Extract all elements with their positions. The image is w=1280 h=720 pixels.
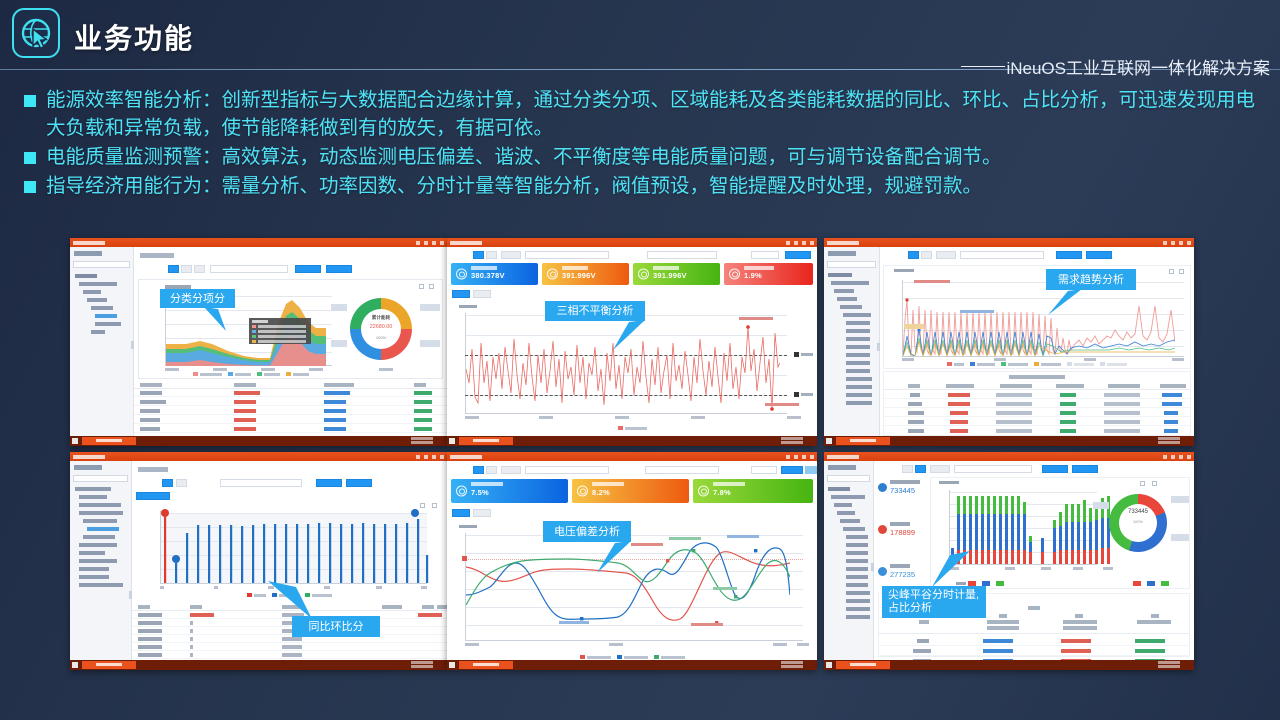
breadcrumb xyxy=(138,467,168,472)
export-button[interactable] xyxy=(326,265,352,273)
x-tick xyxy=(1005,567,1015,570)
start-button[interactable] xyxy=(826,438,832,444)
window-titlebar xyxy=(824,238,1194,247)
tree-node[interactable] xyxy=(846,377,872,381)
window-controls[interactable] xyxy=(786,241,814,245)
tree-node[interactable] xyxy=(79,575,109,579)
start-button[interactable] xyxy=(826,662,832,668)
bullet-item: 能源效率智能分析：创新型指标与大数据配合边缘计算，通过分类分项、区域能耗及各类能… xyxy=(24,86,1272,142)
table-row[interactable] xyxy=(132,627,447,635)
export-button[interactable] xyxy=(1086,251,1112,259)
bullet-item: 电能质量监测预警：高效算法，动态监测电压偏差、谐波、不平衡度等电能质量问题，可与… xyxy=(24,143,1272,171)
os-taskbar[interactable] xyxy=(824,660,1194,670)
window-titlebar xyxy=(70,452,447,461)
x-tick xyxy=(994,358,1006,361)
os-taskbar[interactable] xyxy=(70,436,447,446)
kpi-label xyxy=(471,482,503,486)
chart-download-icon[interactable] xyxy=(1179,269,1184,274)
window-title-placeholder xyxy=(73,241,105,246)
tree-node[interactable] xyxy=(79,559,117,563)
tree-search-input[interactable] xyxy=(827,261,876,268)
window-controls[interactable] xyxy=(416,241,444,245)
search-button[interactable] xyxy=(785,251,811,259)
tree-node[interactable] xyxy=(79,567,109,571)
taskbar-app-item[interactable] xyxy=(459,437,513,445)
tree-node[interactable] xyxy=(846,551,868,555)
x-tick xyxy=(261,368,275,371)
table-caption xyxy=(1009,375,1065,379)
x-tick xyxy=(539,416,553,419)
kpi-item-peak: 178899 xyxy=(878,519,930,543)
callout-demand-trend: 需求趋势分析 xyxy=(1046,269,1136,290)
window-title-placeholder xyxy=(73,455,105,460)
annotation-min xyxy=(691,623,723,626)
sidebar-title xyxy=(828,251,856,256)
tree-node[interactable] xyxy=(79,282,117,286)
screenshot-classified-energy[interactable]: 累计能耗 22680.00 100% xyxy=(70,238,447,446)
table-row[interactable] xyxy=(134,425,447,433)
screenshot-three-phase-unbalance[interactable]: 380.378V 391.996V 391.996V 1.9% xyxy=(447,238,817,446)
query-toolbar[interactable] xyxy=(140,265,441,274)
table-row[interactable] xyxy=(879,646,1189,656)
x-tick xyxy=(421,586,427,589)
callout-tail xyxy=(204,307,236,333)
sidebar-title xyxy=(828,465,856,470)
table-row[interactable] xyxy=(134,398,447,406)
legend-item xyxy=(193,372,222,376)
window-controls[interactable] xyxy=(1163,241,1191,245)
bar-series xyxy=(161,511,431,583)
taskbar-app-item[interactable] xyxy=(459,661,513,669)
x-tick xyxy=(797,643,809,646)
tree-node[interactable] xyxy=(83,290,101,294)
tree-node[interactable] xyxy=(837,297,857,301)
tree-search-input[interactable] xyxy=(73,261,130,268)
tree-node[interactable] xyxy=(840,305,862,309)
donut-leader-label xyxy=(1093,502,1109,509)
legend-item xyxy=(618,426,647,430)
toolbar-label xyxy=(880,465,904,473)
legend-item xyxy=(1001,362,1028,366)
tab-chart[interactable] xyxy=(452,509,470,517)
tree-node[interactable] xyxy=(843,527,865,531)
voltage-select[interactable] xyxy=(645,466,719,474)
callout-tail xyxy=(268,581,312,621)
demand-detail-table xyxy=(883,371,1191,436)
table-header-row xyxy=(134,381,447,389)
donut-legend xyxy=(1091,581,1194,586)
callout-text: 电压偏差分析 xyxy=(554,526,620,538)
legend-item xyxy=(1133,581,1141,586)
density-label xyxy=(723,251,749,259)
annotation-max xyxy=(727,535,759,538)
search-button[interactable] xyxy=(1056,251,1082,259)
kpi-value: 391.996V xyxy=(562,272,596,280)
chart-download-icon[interactable] xyxy=(1152,481,1157,486)
density-label xyxy=(725,466,751,474)
x-tick xyxy=(379,368,393,371)
marker-pin-compare xyxy=(172,555,180,563)
breadcrumb xyxy=(140,253,174,258)
period-day-button[interactable] xyxy=(473,251,484,259)
tree-node[interactable] xyxy=(828,273,852,277)
chart-legend xyxy=(451,655,813,659)
demand-series xyxy=(903,280,1175,356)
bullet-marker xyxy=(24,181,36,193)
legend-item xyxy=(654,655,685,659)
tree-node[interactable] xyxy=(834,289,854,293)
period-month-button[interactable] xyxy=(176,479,187,487)
tree-node-selected[interactable] xyxy=(87,527,119,531)
table-row[interactable] xyxy=(884,400,1190,408)
x-tick xyxy=(465,643,479,646)
toolbar-label xyxy=(140,265,166,273)
app-body: 7.5% 8.2% 7.8% xyxy=(447,461,817,660)
chart-zoom-icon[interactable] xyxy=(1169,269,1174,274)
table-row[interactable] xyxy=(134,407,447,415)
period-month-button[interactable] xyxy=(921,251,932,259)
period-custom-button[interactable] xyxy=(501,251,521,259)
tab-table[interactable] xyxy=(473,509,491,517)
start-button[interactable] xyxy=(449,438,455,444)
donut-leader-label xyxy=(1171,534,1189,541)
content-panel xyxy=(880,247,1194,436)
app-body: 380.378V 391.996V 391.996V 1.9% xyxy=(447,247,817,436)
group-header xyxy=(1028,606,1040,610)
period-day-button[interactable] xyxy=(908,251,919,259)
tree-node-selected[interactable] xyxy=(95,314,117,318)
os-taskbar[interactable] xyxy=(447,436,817,446)
query-toolbar[interactable] xyxy=(880,465,1188,474)
tree-node[interactable] xyxy=(846,543,868,547)
query-toolbar[interactable] xyxy=(886,251,1188,260)
tree-node[interactable] xyxy=(831,281,869,285)
tree-node[interactable] xyxy=(846,353,870,357)
table-row[interactable] xyxy=(884,409,1190,417)
taskbar-app-item[interactable] xyxy=(82,437,136,445)
brand-slogan: iNeuOS工业互联网一体化解决方案 xyxy=(961,54,1270,79)
tree-node[interactable] xyxy=(846,401,872,405)
gauge-icon xyxy=(698,486,709,497)
callout-tail xyxy=(1046,289,1082,317)
tree-node[interactable] xyxy=(846,337,870,341)
annotation-max xyxy=(669,537,701,540)
device-tree-sidebar[interactable] xyxy=(824,461,874,660)
period-month-button[interactable] xyxy=(486,466,497,474)
annotation-max xyxy=(739,317,773,320)
annotation-point xyxy=(713,587,737,590)
tree-node[interactable] xyxy=(79,551,105,555)
app-body: 733445 178899 277235 277311 xyxy=(824,461,1194,660)
x-tick xyxy=(309,368,323,371)
kpi-value: 733445 xyxy=(890,486,915,495)
callout-text: 尖峰平谷分时计量, 占比分析 xyxy=(888,589,979,615)
tree-node[interactable] xyxy=(846,615,870,619)
kpi-label xyxy=(890,480,920,484)
screenshot-yoy-mom[interactable]: 同比环比分 xyxy=(70,452,447,670)
tree-node[interactable] xyxy=(846,321,870,325)
toolbar-label xyxy=(886,251,910,259)
annotation-min xyxy=(765,403,799,406)
tree-node[interactable] xyxy=(95,322,121,326)
tree-node[interactable] xyxy=(846,575,868,579)
query-toolbar[interactable] xyxy=(451,251,813,260)
search-button[interactable] xyxy=(781,466,803,474)
x-tick xyxy=(324,586,330,589)
tree-node[interactable] xyxy=(79,511,123,515)
x-tick xyxy=(1172,358,1184,361)
table-row[interactable] xyxy=(134,389,447,397)
kpi-label xyxy=(890,564,910,568)
tree-node[interactable] xyxy=(846,607,870,611)
x-tick xyxy=(214,586,218,589)
os-taskbar[interactable] xyxy=(447,660,817,670)
window-controls[interactable] xyxy=(416,455,444,459)
legend-item xyxy=(617,655,648,659)
chart-y-title xyxy=(939,481,959,484)
total-icon xyxy=(878,483,887,492)
legend-item xyxy=(247,593,266,597)
period-custom-button[interactable] xyxy=(501,466,521,474)
donut-center-value: 733445 xyxy=(1109,509,1167,515)
chart-tooltip xyxy=(249,318,311,344)
date-input[interactable] xyxy=(210,265,288,273)
date-input[interactable] xyxy=(525,251,609,259)
period-day-button[interactable] xyxy=(168,265,179,273)
kpi-card-a-phase: 380.378V xyxy=(451,263,538,285)
tree-node[interactable] xyxy=(91,306,113,310)
tree-node[interactable] xyxy=(846,535,868,539)
energy-donut-chart: 累计能耗 22680.00 100% xyxy=(350,298,412,360)
threshold-marker xyxy=(794,392,799,397)
kpi-item-total: 733445 xyxy=(878,477,930,501)
window-titlebar xyxy=(447,238,817,247)
period-month-button[interactable] xyxy=(181,265,192,273)
date-input[interactable] xyxy=(220,479,302,487)
period-day-button[interactable] xyxy=(902,465,913,473)
tree-node[interactable] xyxy=(79,543,117,547)
threshold-marker xyxy=(794,352,799,357)
tree-node[interactable] xyxy=(846,361,870,365)
table-row[interactable] xyxy=(884,391,1190,399)
screenshot-voltage-deviation[interactable]: 7.5% 8.2% 7.8% xyxy=(447,452,817,670)
chart-legend xyxy=(451,426,813,430)
chart-download-icon[interactable] xyxy=(429,284,434,289)
period-day-button[interactable] xyxy=(473,466,484,474)
date-input[interactable] xyxy=(954,465,1032,473)
table-header-row xyxy=(884,382,1190,390)
kpi-value: 178899 xyxy=(890,528,915,537)
taskbar-app-item[interactable] xyxy=(836,437,890,445)
query-toolbar[interactable] xyxy=(451,466,813,475)
window-titlebar xyxy=(447,452,817,461)
tree-node[interactable] xyxy=(846,591,870,595)
export-button[interactable] xyxy=(346,479,372,487)
window-titlebar xyxy=(70,238,447,247)
window-title-placeholder xyxy=(450,455,482,460)
os-taskbar[interactable] xyxy=(824,436,1194,446)
callout-tail xyxy=(593,541,633,575)
kpi-card-b-phase: 391.996V xyxy=(542,263,629,285)
tree-node[interactable] xyxy=(846,599,870,603)
chart-legend xyxy=(884,362,1190,366)
content-panel: 733445 178899 277235 277311 xyxy=(874,461,1194,660)
search-button[interactable] xyxy=(1042,465,1068,473)
tree-search-input[interactable] xyxy=(73,475,128,482)
x-tick xyxy=(465,416,479,419)
period-day-button[interactable] xyxy=(162,479,173,487)
sidebar-title xyxy=(74,251,102,256)
donut-leader-label xyxy=(1171,496,1189,503)
callout-text: 同比环比分 xyxy=(309,621,364,633)
window-title-placeholder xyxy=(827,455,859,460)
annotation-marker xyxy=(904,324,924,329)
bullet-marker xyxy=(24,95,36,107)
bullet-list: 能源效率智能分析：创新型指标与大数据配合边缘计算，通过分类分项、区域能耗及各类能… xyxy=(24,86,1272,201)
chart-zoom-icon[interactable] xyxy=(419,284,424,289)
annotation-max xyxy=(914,280,950,283)
window-controls[interactable] xyxy=(1163,455,1191,459)
tree-node[interactable] xyxy=(79,495,107,499)
brand-dash xyxy=(961,66,1005,67)
x-tick xyxy=(615,416,629,419)
threshold-label xyxy=(801,393,813,396)
gauge-icon xyxy=(577,486,588,497)
callout-tail xyxy=(928,551,972,591)
kpi-label xyxy=(653,266,679,270)
start-button[interactable] xyxy=(72,438,78,444)
tree-node[interactable] xyxy=(846,329,870,333)
callout-voltage-deviation: 电压偏差分析 xyxy=(543,521,631,542)
table-row[interactable] xyxy=(132,651,447,659)
table-row[interactable] xyxy=(879,636,1189,646)
tab-table[interactable] xyxy=(473,290,491,298)
start-button[interactable] xyxy=(72,662,78,668)
table-row[interactable] xyxy=(132,643,447,651)
legend-item xyxy=(1161,581,1169,586)
tree-node[interactable] xyxy=(79,503,121,507)
export-button[interactable] xyxy=(1072,465,1098,473)
period-year-button[interactable] xyxy=(194,265,205,273)
donut-center-value: 22680.00 xyxy=(350,324,412,330)
tab-chart[interactable] xyxy=(452,290,470,298)
table-row[interactable] xyxy=(134,416,447,424)
taskbar-app-item[interactable] xyxy=(836,661,890,669)
tree-node[interactable] xyxy=(843,313,871,317)
tree-node[interactable] xyxy=(846,345,870,349)
date-input[interactable] xyxy=(960,251,1044,259)
globe-cursor-icon xyxy=(20,16,54,52)
voltage-label xyxy=(617,466,643,474)
tree-node[interactable] xyxy=(846,567,868,571)
taskbar-clock xyxy=(1158,437,1180,445)
tree-node[interactable] xyxy=(87,298,107,302)
tree-node[interactable] xyxy=(840,519,860,523)
brand-text: iNeuOS工业互联网一体化解决方案 xyxy=(1006,54,1270,79)
device-tree-sidebar[interactable] xyxy=(70,247,134,436)
table-row[interactable] xyxy=(884,427,1190,435)
legend-item xyxy=(947,362,964,366)
tree-node[interactable] xyxy=(83,519,117,523)
x-tick xyxy=(160,586,164,589)
search-button[interactable] xyxy=(316,479,342,487)
tree-node[interactable] xyxy=(837,511,855,515)
legend-item xyxy=(996,581,1004,586)
taskbar-clock xyxy=(1158,661,1180,669)
chart-zoom-icon[interactable] xyxy=(420,503,425,508)
tree-node[interactable] xyxy=(75,487,111,491)
donut-leader-label xyxy=(331,340,347,347)
density-select[interactable] xyxy=(751,466,777,474)
chart-download-icon[interactable] xyxy=(432,503,437,508)
callout-peak-valley: 尖峰平谷分时计量, 占比分析 xyxy=(882,586,986,618)
content-panel xyxy=(132,461,447,660)
export-button[interactable] xyxy=(805,466,817,474)
period-month-button[interactable] xyxy=(486,251,497,259)
period-month-button[interactable] xyxy=(915,465,926,473)
tree-node[interactable] xyxy=(831,495,865,499)
os-taskbar[interactable] xyxy=(70,660,447,670)
period-custom-button[interactable] xyxy=(930,465,950,473)
tree-node[interactable] xyxy=(846,369,870,373)
tree-node[interactable] xyxy=(91,330,105,334)
callout-three-phase: 三相不平衡分析 xyxy=(545,301,645,321)
start-button[interactable] xyxy=(449,662,455,668)
tab-compare[interactable] xyxy=(136,492,170,500)
density-select[interactable] xyxy=(751,251,779,259)
tree-node[interactable] xyxy=(828,487,850,491)
taskbar-app-item[interactable] xyxy=(82,661,136,669)
tree-node[interactable] xyxy=(83,535,115,539)
screenshot-demand-trend[interactable]: 需求趋势分析 xyxy=(824,238,1194,446)
tree-node[interactable] xyxy=(79,583,123,587)
screenshot-peak-valley-metering[interactable]: 733445 178899 277235 277311 xyxy=(824,452,1194,670)
tree-node[interactable] xyxy=(75,274,97,278)
device-tree-sidebar[interactable] xyxy=(70,461,132,660)
device-tree-sidebar[interactable] xyxy=(824,247,880,436)
peak-valley-donut-chart: 733445 100% xyxy=(1109,494,1167,552)
callout-text: 需求趋势分析 xyxy=(1058,274,1124,286)
tree-node[interactable] xyxy=(846,385,872,389)
query-toolbar[interactable] xyxy=(138,479,441,488)
legend-item xyxy=(228,372,251,376)
tree-node[interactable] xyxy=(846,559,868,563)
kpi-card-b-deviation: 8.2% xyxy=(572,479,689,503)
table-row[interactable] xyxy=(132,635,447,643)
kpi-value: 1.9% xyxy=(744,272,762,280)
taskbar-clock xyxy=(781,437,803,445)
marker-pin-compare xyxy=(411,509,419,517)
tree-node[interactable] xyxy=(846,393,872,397)
bullet-text: 能源效率智能分析：创新型指标与大数据配合边缘计算，通过分类分项、区域能耗及各类能… xyxy=(46,86,1272,142)
period-custom-button[interactable] xyxy=(936,251,956,259)
tree-search-input[interactable] xyxy=(827,475,870,482)
taskbar-clock xyxy=(411,661,433,669)
chart-zoom-icon[interactable] xyxy=(1140,481,1145,486)
bullet-marker xyxy=(24,152,36,164)
type-select[interactable] xyxy=(647,251,717,259)
content-panel: 累计能耗 22680.00 100% xyxy=(134,247,447,436)
peak-icon xyxy=(878,525,887,534)
x-tick xyxy=(1041,567,1051,570)
donut-center-pct: 100% xyxy=(1109,519,1167,524)
search-button[interactable] xyxy=(295,265,321,273)
date-input[interactable] xyxy=(525,466,609,474)
table-row[interactable] xyxy=(884,418,1190,426)
callout-tail xyxy=(607,320,645,352)
tree-node[interactable] xyxy=(834,503,852,507)
window-controls[interactable] xyxy=(786,455,814,459)
